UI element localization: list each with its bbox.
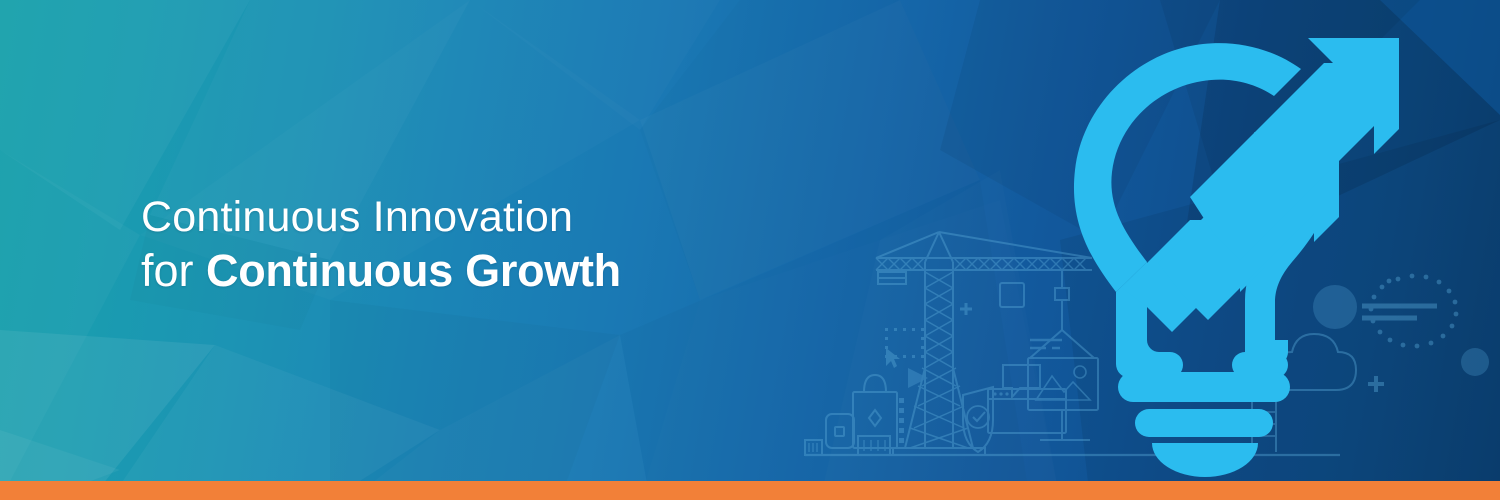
bulb-base-bar-2 [1135, 409, 1273, 437]
headline-line-2-prefix: for [141, 245, 206, 296]
headline-line-2-emphasis: Continuous Growth [206, 245, 621, 296]
orange-accent-rule [0, 481, 1500, 500]
lightbulb-growth-arrows-logo [1020, 0, 1420, 500]
headline-line-1: Continuous Innovation [141, 196, 621, 239]
headline-line-2: for Continuous Growth [141, 248, 621, 293]
bulb-base-cap [1152, 443, 1258, 477]
promo-banner: Continuous Innovation for Continuous Gro… [0, 0, 1500, 500]
headline: Continuous Innovation for Continuous Gro… [141, 196, 621, 293]
bulb-right-neck [1245, 300, 1275, 352]
bulb-base-bar-1 [1118, 372, 1290, 402]
